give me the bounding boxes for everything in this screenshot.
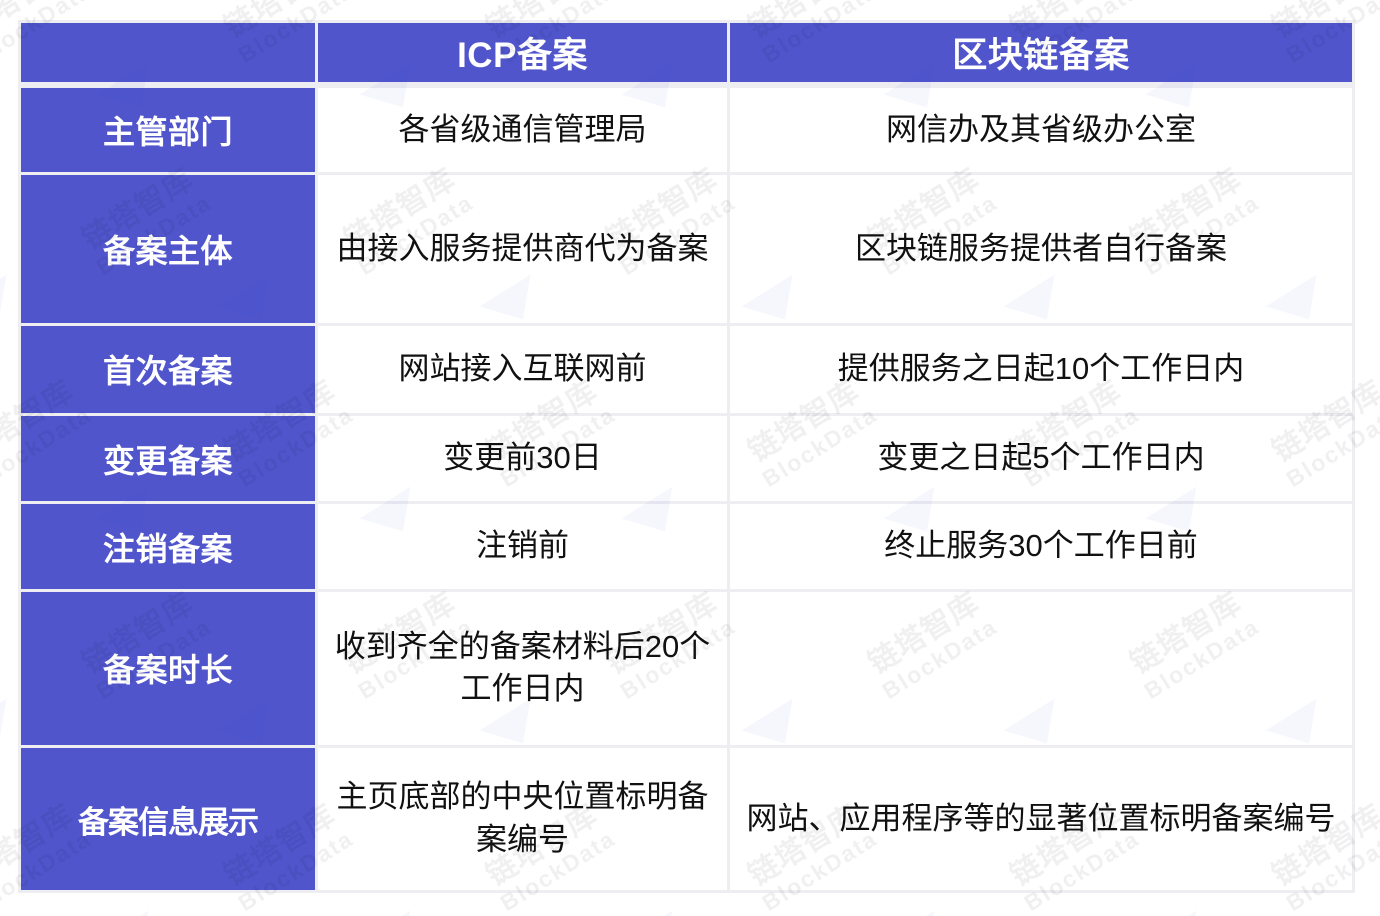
table-row: 备案时长 收到齐全的备案材料后20个工作日内 bbox=[18, 592, 1355, 748]
table-row: 备案主体 由接入服务提供商代为备案 区块链服务提供者自行备案 bbox=[18, 175, 1355, 325]
cell-icp-supervisory-department: 各省级通信管理局 bbox=[318, 85, 730, 175]
cell-blockchain-cancel-filing: 终止服务30个工作日前 bbox=[730, 504, 1355, 591]
header-corner-blank bbox=[18, 20, 318, 85]
row-label-filing-subject: 备案主体 bbox=[18, 175, 318, 325]
watermark-chevron-icon bbox=[1146, 911, 1215, 916]
cell-icp-change-filing: 变更前30日 bbox=[318, 416, 730, 504]
watermark-chevron-icon bbox=[360, 911, 429, 916]
cell-blockchain-filing-subject: 区块链服务提供者自行备案 bbox=[730, 175, 1355, 325]
row-label-supervisory-department: 主管部门 bbox=[18, 85, 318, 175]
watermark-chevron-icon bbox=[884, 911, 953, 916]
cell-blockchain-first-filing: 提供服务之日起10个工作日内 bbox=[730, 326, 1355, 416]
cell-icp-filing-info-display: 主页底部的中央位置标明备案编号 bbox=[318, 748, 730, 893]
comparison-table: ICP备案 区块链备案 主管部门 各省级通信管理局 网信办及其省级办公室 备案主… bbox=[18, 20, 1355, 893]
cell-blockchain-supervisory-department: 网信办及其省级办公室 bbox=[730, 85, 1355, 175]
cell-blockchain-change-filing: 变更之日起5个工作日内 bbox=[730, 416, 1355, 504]
table-row: 首次备案 网站接入互联网前 提供服务之日起10个工作日内 bbox=[18, 326, 1355, 416]
row-label-cancel-filing: 注销备案 bbox=[18, 504, 318, 591]
cell-icp-filing-subject: 由接入服务提供商代为备案 bbox=[318, 175, 730, 325]
cell-icp-filing-duration: 收到齐全的备案材料后20个工作日内 bbox=[318, 592, 730, 748]
row-label-filing-duration: 备案时长 bbox=[18, 592, 318, 748]
comparison-table-container: ICP备案 区块链备案 主管部门 各省级通信管理局 网信办及其省级办公室 备案主… bbox=[18, 20, 1355, 893]
row-label-change-filing: 变更备案 bbox=[18, 416, 318, 504]
row-label-first-filing: 首次备案 bbox=[18, 326, 318, 416]
cell-blockchain-filing-duration bbox=[730, 592, 1355, 748]
cell-icp-cancel-filing: 注销前 bbox=[318, 504, 730, 591]
table-body: 主管部门 各省级通信管理局 网信办及其省级办公室 备案主体 由接入服务提供商代为… bbox=[18, 85, 1355, 893]
table-row: 备案信息展示 主页底部的中央位置标明备案编号 网站、应用程序等的显著位置标明备案… bbox=[18, 748, 1355, 893]
watermark-chevron-icon bbox=[622, 911, 691, 916]
cell-blockchain-filing-info-display: 网站、应用程序等的显著位置标明备案编号 bbox=[730, 748, 1355, 893]
header-col-blockchain: 区块链备案 bbox=[730, 20, 1355, 85]
header-row: ICP备案 区块链备案 bbox=[18, 20, 1355, 85]
row-label-filing-info-display: 备案信息展示 bbox=[18, 748, 318, 893]
table-row: 注销备案 注销前 终止服务30个工作日前 bbox=[18, 504, 1355, 591]
watermark-chevron-icon bbox=[98, 911, 167, 916]
header-col-icp: ICP备案 bbox=[318, 20, 730, 85]
table-row: 变更备案 变更前30日 变更之日起5个工作日内 bbox=[18, 416, 1355, 504]
table-header: ICP备案 区块链备案 bbox=[18, 20, 1355, 85]
cell-icp-first-filing: 网站接入互联网前 bbox=[318, 326, 730, 416]
table-row: 主管部门 各省级通信管理局 网信办及其省级办公室 bbox=[18, 85, 1355, 175]
